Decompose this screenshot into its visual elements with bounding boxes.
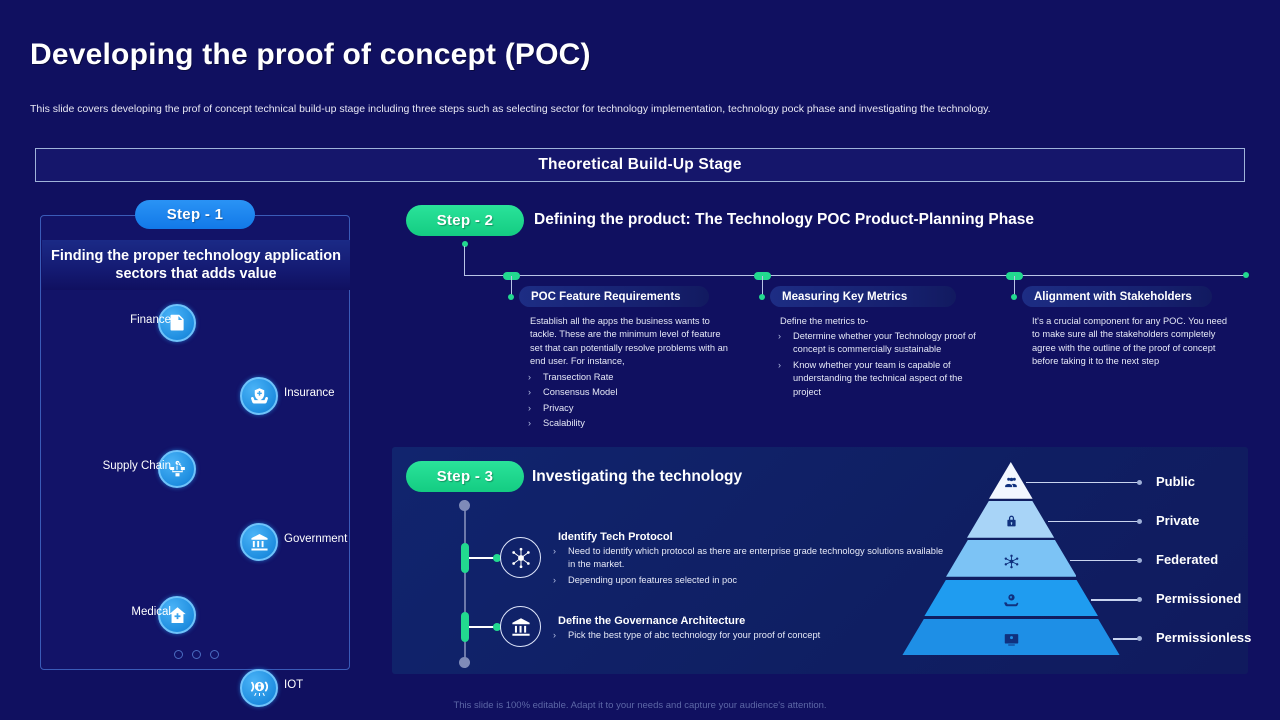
bullet-text: Determine whether your Technology proof … bbox=[793, 330, 978, 357]
tech-protocol-network-icon bbox=[500, 537, 541, 578]
step-2-stem-2 bbox=[762, 276, 763, 296]
step-2-stem-1 bbox=[511, 276, 512, 296]
step-1-heading-bar: Finding the proper technology applicatio… bbox=[42, 240, 350, 290]
step-2-pill-1[interactable]: POC Feature Requirements bbox=[519, 286, 709, 307]
sector-row[interactable]: Government bbox=[41, 523, 351, 596]
pyramid-leader-line bbox=[1113, 638, 1140, 639]
step-2-paragraph-3: It's a crucial component for any POC. Yo… bbox=[1032, 315, 1232, 369]
chevron-right-icon: › bbox=[528, 386, 535, 399]
step-1-card: Finding the proper technology applicatio… bbox=[40, 215, 350, 670]
step-3-tick-2 bbox=[461, 612, 469, 642]
bullet-item: ›Privacy bbox=[528, 402, 738, 415]
pyramid-leader-dot bbox=[1137, 480, 1142, 485]
step-2-stem-dot-3 bbox=[1011, 294, 1017, 300]
bullet-item: ›Determine whether your Technology proof… bbox=[778, 330, 978, 357]
pager-dots[interactable] bbox=[41, 650, 351, 659]
pyramid-label[interactable]: Permissionless bbox=[1156, 630, 1251, 645]
step-2-bullets-2: ›Determine whether your Technology proof… bbox=[778, 330, 978, 401]
sector-label: Medical bbox=[61, 605, 171, 619]
pager-dot[interactable] bbox=[174, 650, 183, 659]
slide-root: Developing the proof of concept (POC) Th… bbox=[0, 0, 1280, 720]
lock-key-icon bbox=[1002, 513, 1020, 531]
bullet-text: Transection Rate bbox=[543, 371, 613, 384]
sector-label: Supply Chain bbox=[61, 459, 171, 473]
step-3-title: Investigating the technology bbox=[532, 468, 742, 486]
step-2-drop-line bbox=[464, 246, 465, 276]
sector-label: Finance bbox=[61, 313, 171, 327]
bullet-item: ›Need to identify which protocol as ther… bbox=[553, 545, 953, 572]
bullet-text: Need to identify which protocol as there… bbox=[568, 545, 953, 572]
chevron-right-icon: › bbox=[553, 545, 560, 572]
sector-label: IOT bbox=[284, 678, 384, 692]
chevron-right-icon: › bbox=[528, 371, 535, 384]
bullet-item: ›Depending upon features selected in poc bbox=[553, 574, 953, 587]
step-3-rail-top-dot bbox=[459, 500, 470, 511]
chevron-right-icon: › bbox=[553, 574, 560, 587]
footer-note: This slide is 100% editable. Adapt it to… bbox=[0, 700, 1280, 711]
bullet-item: ›Pick the best type of abc technology fo… bbox=[553, 629, 953, 642]
shield-hands-icon bbox=[240, 377, 278, 415]
pyramid-leader-dot bbox=[1137, 558, 1142, 563]
step-2-pill-label-3: Alignment with Stakeholders bbox=[1034, 291, 1192, 303]
governance-bank-icon bbox=[500, 606, 541, 647]
page-title: Developing the proof of concept (POC) bbox=[30, 38, 591, 72]
hand-user-icon bbox=[1002, 591, 1020, 609]
chevron-right-icon: › bbox=[778, 330, 785, 357]
page-subtitle: This slide covers developing the prof of… bbox=[30, 103, 1190, 117]
pyramid-leader-line bbox=[1026, 482, 1140, 483]
step-1-heading: Finding the proper technology applicatio… bbox=[42, 247, 350, 283]
step-2-pill-label-2: Measuring Key Metrics bbox=[782, 291, 907, 303]
chevron-right-icon: › bbox=[553, 629, 560, 642]
pager-dot[interactable] bbox=[210, 650, 219, 659]
step-1-badge[interactable]: Step - 1 bbox=[135, 200, 255, 229]
bullet-text: Consensus Model bbox=[543, 386, 617, 399]
government-building-icon bbox=[240, 523, 278, 561]
bullet-text: Depending upon features selected in poc bbox=[568, 574, 737, 587]
step-3-rail bbox=[464, 500, 466, 668]
sector-row[interactable]: IOT bbox=[41, 669, 351, 720]
step-3-rail-bottom-dot bbox=[459, 657, 470, 668]
step-2-paragraph-1: Establish all the apps the business want… bbox=[530, 315, 735, 369]
pager-dot[interactable] bbox=[192, 650, 201, 659]
step-3-item-heading-1: Identify Tech Protocol bbox=[558, 531, 673, 543]
bullet-text: Scalability bbox=[543, 417, 585, 430]
step-3-badge[interactable]: Step - 3 bbox=[406, 461, 524, 492]
users-group-icon bbox=[1002, 474, 1020, 492]
user-screen-icon bbox=[1002, 630, 1020, 648]
theoretical-build-up-banner: Theoretical Build-Up Stage bbox=[35, 148, 1245, 182]
pyramid-label[interactable]: Permissioned bbox=[1156, 591, 1241, 606]
bullet-text: Pick the best type of abc technology for… bbox=[568, 629, 820, 642]
pyramid-leader-line bbox=[1091, 599, 1140, 600]
step-3-item-heading-2: Define the Governance Architecture bbox=[558, 615, 745, 627]
step-2-badge[interactable]: Step - 2 bbox=[406, 205, 524, 236]
step-2-pill-2[interactable]: Measuring Key Metrics bbox=[770, 286, 956, 307]
nodes-hub-icon bbox=[1002, 552, 1020, 570]
sector-label: Government bbox=[284, 532, 384, 546]
step-2-rail-end-dot bbox=[1243, 272, 1249, 278]
bullet-item: ›Transection Rate bbox=[528, 371, 738, 384]
step-2-stem-dot-1 bbox=[508, 294, 514, 300]
step-3-tick-1 bbox=[461, 543, 469, 573]
chevron-right-icon: › bbox=[528, 402, 535, 415]
banner-label: Theoretical Build-Up Stage bbox=[538, 156, 741, 174]
step-2-bullets-1: ›Transection Rate›Consensus Model›Privac… bbox=[528, 371, 738, 433]
bullet-text: Privacy bbox=[543, 402, 573, 415]
pyramid-label[interactable]: Public bbox=[1156, 474, 1195, 489]
step-2-pill-label-1: POC Feature Requirements bbox=[531, 291, 681, 303]
sector-row[interactable]: Finance bbox=[41, 304, 351, 377]
sector-row[interactable]: Insurance bbox=[41, 377, 351, 450]
step-2-title: Defining the product: The Technology POC… bbox=[534, 211, 1034, 229]
step-2-paragraph-2: Define the metrics to- bbox=[780, 315, 980, 328]
step-3-bullets-1: ›Need to identify which protocol as ther… bbox=[553, 545, 953, 589]
chevron-right-icon: › bbox=[528, 417, 535, 430]
pyramid-leader-line bbox=[1048, 521, 1140, 522]
step-2-pill-3[interactable]: Alignment with Stakeholders bbox=[1022, 286, 1212, 307]
bullet-text: Know whether your team is capable of und… bbox=[793, 359, 978, 399]
step-2-rail bbox=[464, 275, 1248, 276]
pyramid-label[interactable]: Private bbox=[1156, 513, 1199, 528]
pyramid-label[interactable]: Federated bbox=[1156, 552, 1218, 567]
sector-label: Insurance bbox=[284, 386, 384, 400]
chevron-right-icon: › bbox=[778, 359, 785, 399]
step-2-stem-3 bbox=[1014, 276, 1015, 296]
step-3-bullets-2: ›Pick the best type of abc technology fo… bbox=[553, 629, 953, 644]
pyramid-leader-line bbox=[1070, 560, 1141, 561]
pyramid-leader-dot bbox=[1137, 519, 1142, 524]
bullet-item: ›Know whether your team is capable of un… bbox=[778, 359, 978, 399]
bullet-item: ›Consensus Model bbox=[528, 386, 738, 399]
bullet-item: ›Scalability bbox=[528, 417, 738, 430]
step-2-stem-dot-2 bbox=[759, 294, 765, 300]
sector-row[interactable]: Supply Chain bbox=[41, 450, 351, 523]
